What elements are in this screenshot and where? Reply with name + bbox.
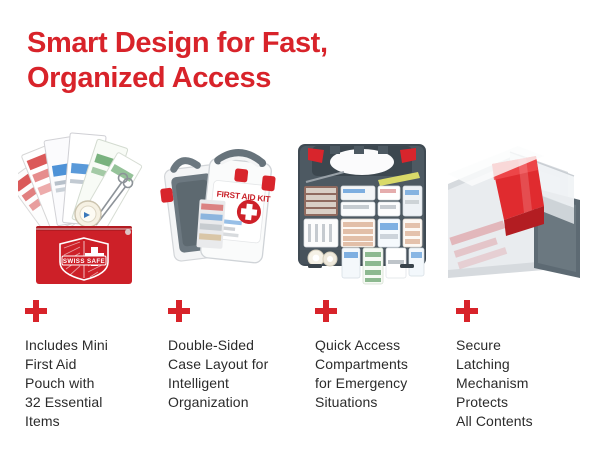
feature-text: Includes Mini First Aid Pouch with 32 Es… [25,336,155,431]
page-title-line-1: Smart Design for Fast, [27,27,328,59]
feature-item-mini-pouch: Includes Mini First Aid Pouch with 32 Es… [25,300,155,431]
double-sided-case-illustration: FIRST AID KIT [160,128,280,286]
swiss-safe-shield-badge: SWISS SAFE [60,238,108,280]
feature-item-double-sided: Double-Sided Case Layout for Intelligent… [168,300,298,412]
feature-text: Double-Sided Case Layout for Intelligent… [168,336,298,412]
svg-text:SWISS SAFE: SWISS SAFE [63,258,105,265]
red-cross-plus-icon [25,300,47,322]
feature-list: Includes Mini First Aid Pouch with 32 Es… [0,300,600,440]
red-cross-plus-icon [168,300,190,322]
product-feature-banner: Smart Design for Fast, Organized Access [0,0,600,450]
product-image-gallery: SWISS SAFE [0,128,600,286]
feature-item-secure-latching: Secure Latching Mechanism Protects All C… [456,300,586,431]
page-title: Smart Design for Fast, Organized Access [27,26,447,96]
latch-closeup-illustration [448,128,588,286]
pouch-body: SWISS SAFE [36,226,132,284]
feature-text: Secure Latching Mechanism Protects All C… [456,336,586,431]
mini-pouch-illustration: SWISS SAFE [18,128,148,286]
red-cross-plus-icon [456,300,478,322]
product-photo-double-sided-case: FIRST AID KIT [160,128,280,286]
red-cross-plus-icon [315,300,337,322]
open-compartments-illustration [292,128,432,286]
feature-text: Quick Access Compartments for Emergency … [315,336,445,412]
product-photo-open-compartments [292,128,432,286]
page-title-line-2: Organized Access [27,61,447,96]
product-photo-mini-pouch: SWISS SAFE [18,128,148,286]
feature-item-quick-access: Quick Access Compartments for Emergency … [315,300,445,412]
product-photo-latch-closeup [448,128,588,286]
